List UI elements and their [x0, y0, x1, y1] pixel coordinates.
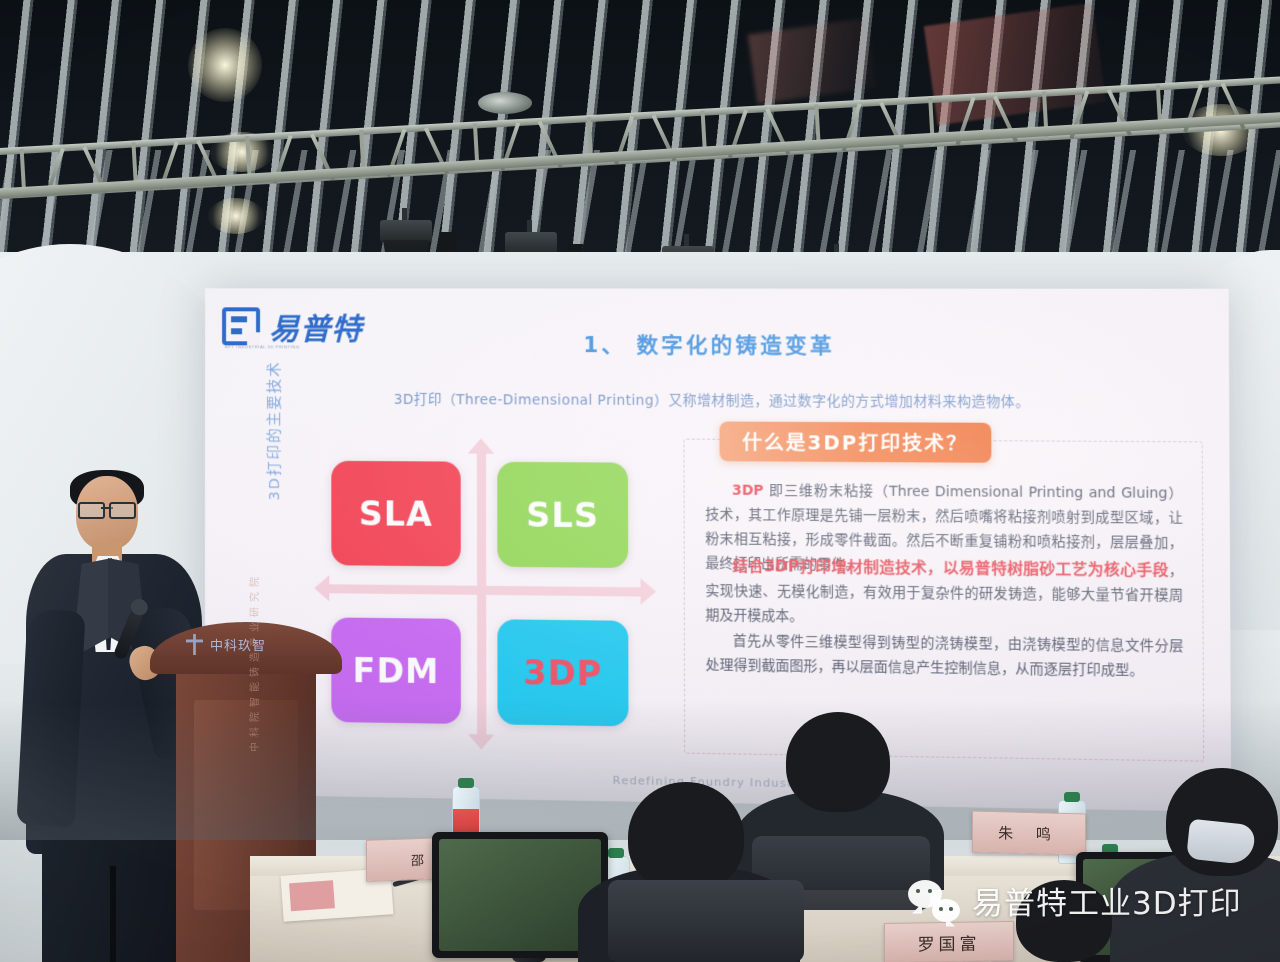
quadrant-sls: SLS — [497, 462, 628, 568]
audience-member-2-head — [786, 712, 890, 812]
info-panel-heading: 什么是3DP打印技术？ — [720, 422, 992, 463]
slide-title: 1、 数字化的铸造变革 — [205, 328, 1229, 361]
speaker-trouser-gap — [110, 866, 116, 962]
ceiling-dish-lamp — [478, 92, 532, 114]
quadrant-sla: SLA — [331, 461, 460, 567]
placard-luo-guofu: 罗国富 — [884, 921, 1014, 962]
arrow-up-icon — [468, 438, 494, 453]
diagram-vertical-label: 3D打印的主要技术 — [263, 360, 284, 500]
podium-logo-icon — [186, 634, 203, 655]
paragraph-3-text: 首先从零件三维模型得到铸型的浇铸模型，由浇铸模型的信息文件分层处理得到截面图形，… — [706, 633, 1184, 679]
diagram-axis-horizontal — [323, 584, 646, 596]
arrow-right-icon — [641, 578, 656, 605]
info-paragraph-2: 结合3DP打印增材制造技术，以易普特树脂砂工艺为核心手段，实现快速、无模化制造，… — [705, 554, 1183, 634]
audience-member-1-head — [628, 782, 744, 892]
speaker-glasses — [78, 502, 136, 515]
ceiling-lamp-1 — [188, 28, 262, 102]
quadrant-diagram: SLA SLS FDM 3DP — [323, 447, 647, 743]
slide-subtitle: 3D打印（Three-Dimensional Printing）又称增材制造，通… — [205, 387, 1229, 411]
arrow-left-icon — [314, 575, 329, 601]
paragraph-2-highlight: 结合3DP打印增材制造技术，以易普特树脂砂工艺为核心手段 — [732, 557, 1169, 580]
paragraph-1-lead: 3DP — [732, 483, 764, 499]
placard-zhu-ming: 朱 鸣 — [972, 811, 1086, 856]
watermark: 易普特工业3D打印 — [908, 878, 1242, 923]
photo-scene: 易普特 EPT INDUSTRIAL 3D PRINTING 1、 数字化的铸造… — [0, 0, 1280, 962]
chair-1 — [608, 880, 804, 962]
ceiling-lamp-3 — [208, 198, 264, 234]
watermark-text: 易普特工业3D打印 — [972, 878, 1242, 923]
wechat-icon — [908, 880, 960, 922]
info-paragraph-3: 首先从零件三维模型得到铸型的浇铸模型，由浇铸模型的信息文件分层处理得到截面图形，… — [706, 629, 1184, 684]
